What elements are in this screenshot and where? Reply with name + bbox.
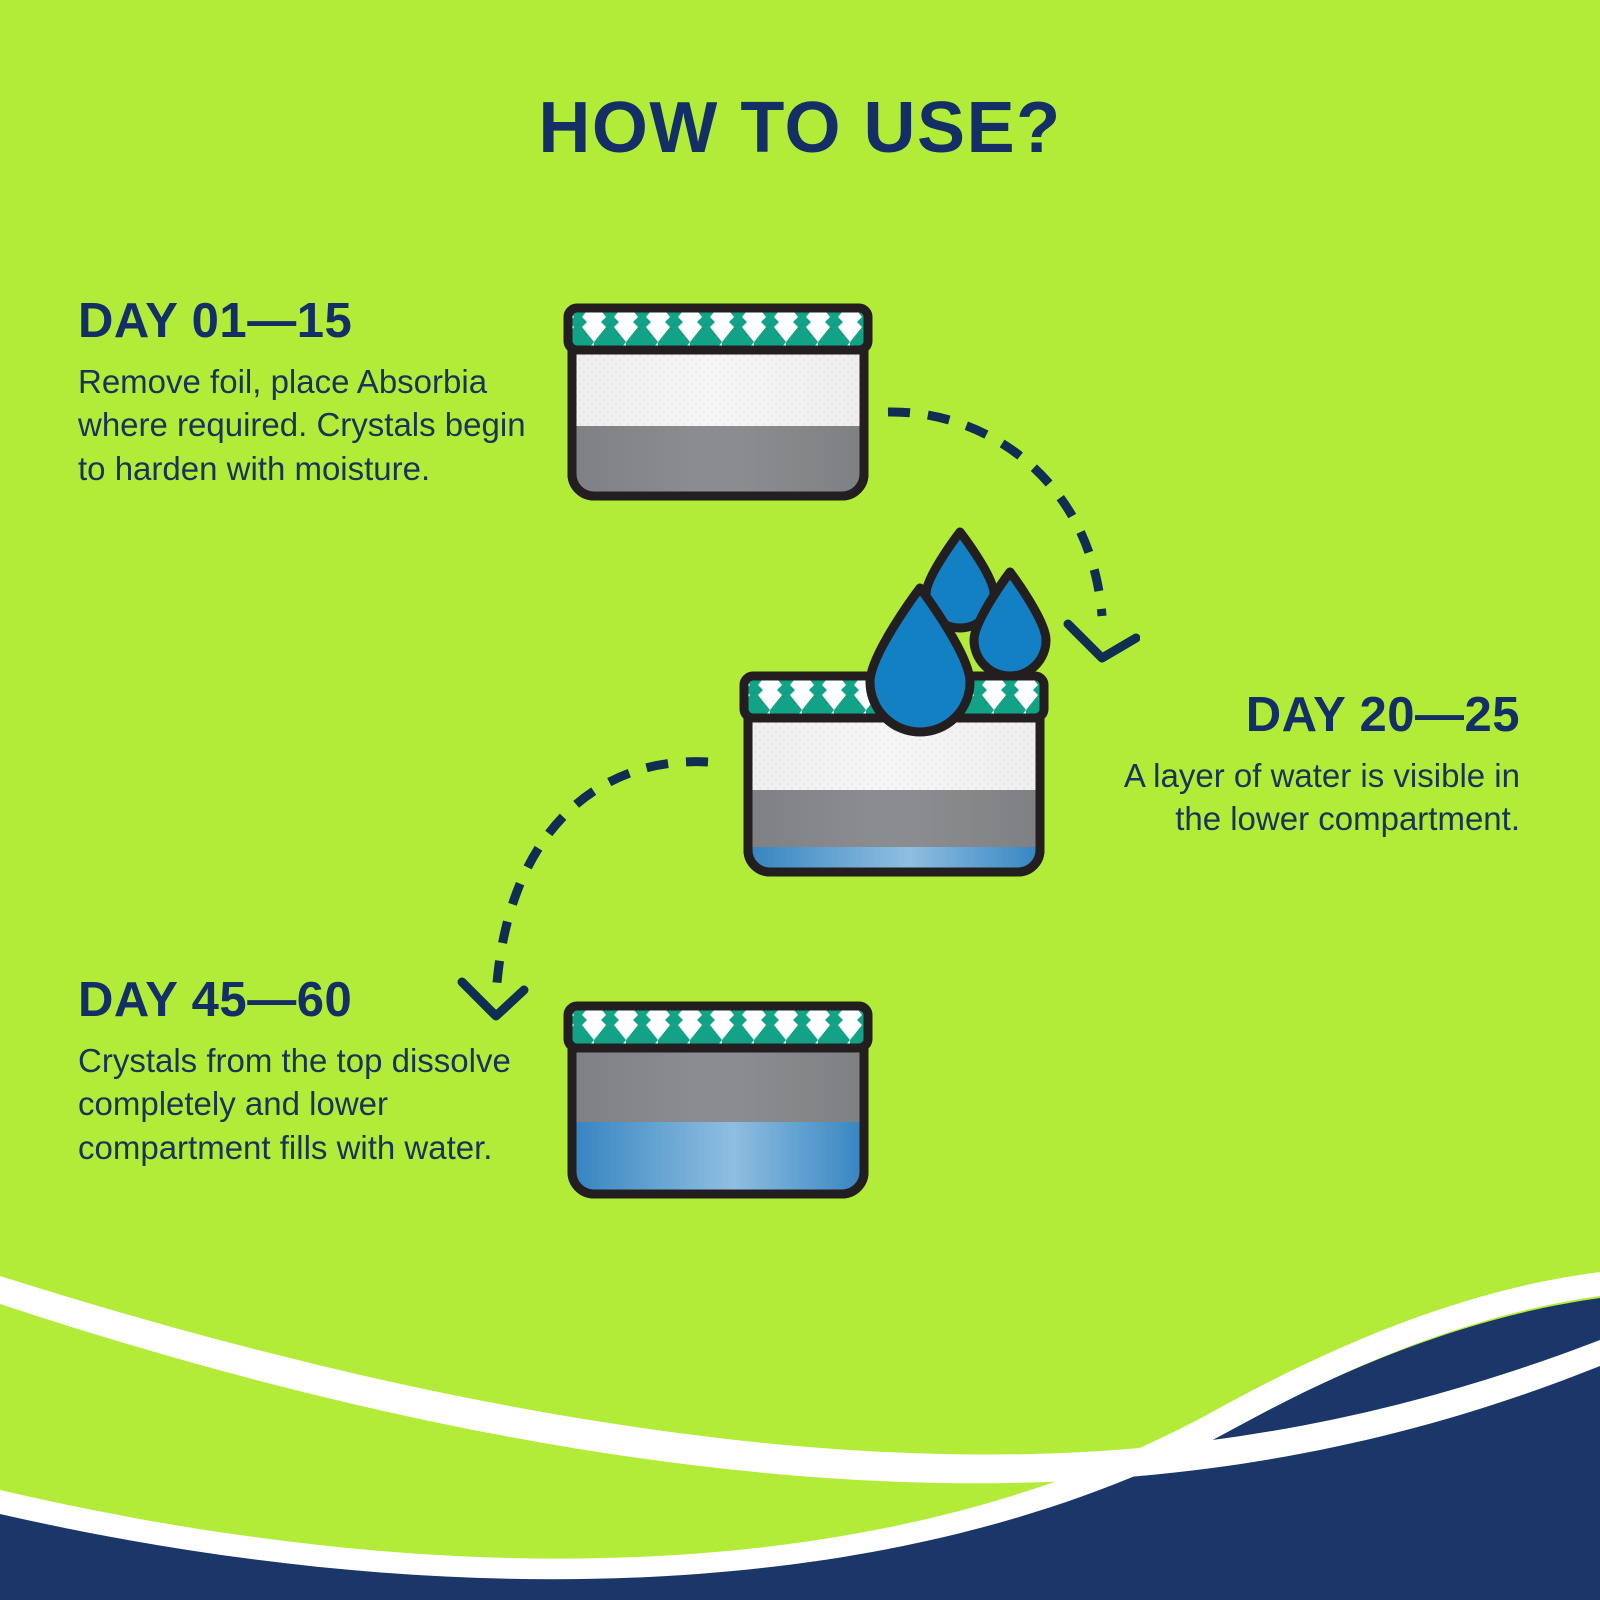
wave-white-band-upper	[0, 1276, 1600, 1483]
wave-navy-fill	[0, 1298, 1600, 1600]
step-2-body: A layer of water is visible in the lower…	[1120, 754, 1520, 841]
jar-1-lid	[568, 308, 868, 350]
decorative-wave-band	[0, 1180, 1600, 1600]
arrow-1-head-icon	[1068, 624, 1136, 658]
wave-white-band-lower	[0, 1272, 1600, 1579]
step-1-body: Remove foil, place Absorbia where requir…	[78, 360, 548, 491]
page-title: HOW TO USE?	[0, 92, 1600, 164]
jar-1-body	[562, 346, 874, 504]
step-1-heading: DAY 01—15	[78, 296, 548, 348]
jar-3-lid	[568, 1006, 868, 1048]
step-3-text-block: DAY 45—60 Crystals from the top dissolve…	[78, 975, 548, 1170]
step-3-body: Crystals from the top dissolve completel…	[78, 1039, 548, 1170]
jar-3-body	[562, 1044, 874, 1202]
step-2-text-block: DAY 20—25 A layer of water is visible in…	[1120, 690, 1520, 841]
water-droplets-icon	[860, 520, 1060, 745]
step-3-heading: DAY 45—60	[78, 975, 548, 1027]
step-2-heading: DAY 20—25	[1120, 690, 1520, 742]
infographic-page: HOW TO USE? DAY 01—15 Remove foil, place…	[0, 0, 1600, 1600]
step-1-text-block: DAY 01—15 Remove foil, place Absorbia wh…	[78, 296, 548, 491]
absorbia-jar-day-45-60	[562, 1000, 874, 1202]
absorbia-jar-day-01-15	[562, 302, 874, 504]
